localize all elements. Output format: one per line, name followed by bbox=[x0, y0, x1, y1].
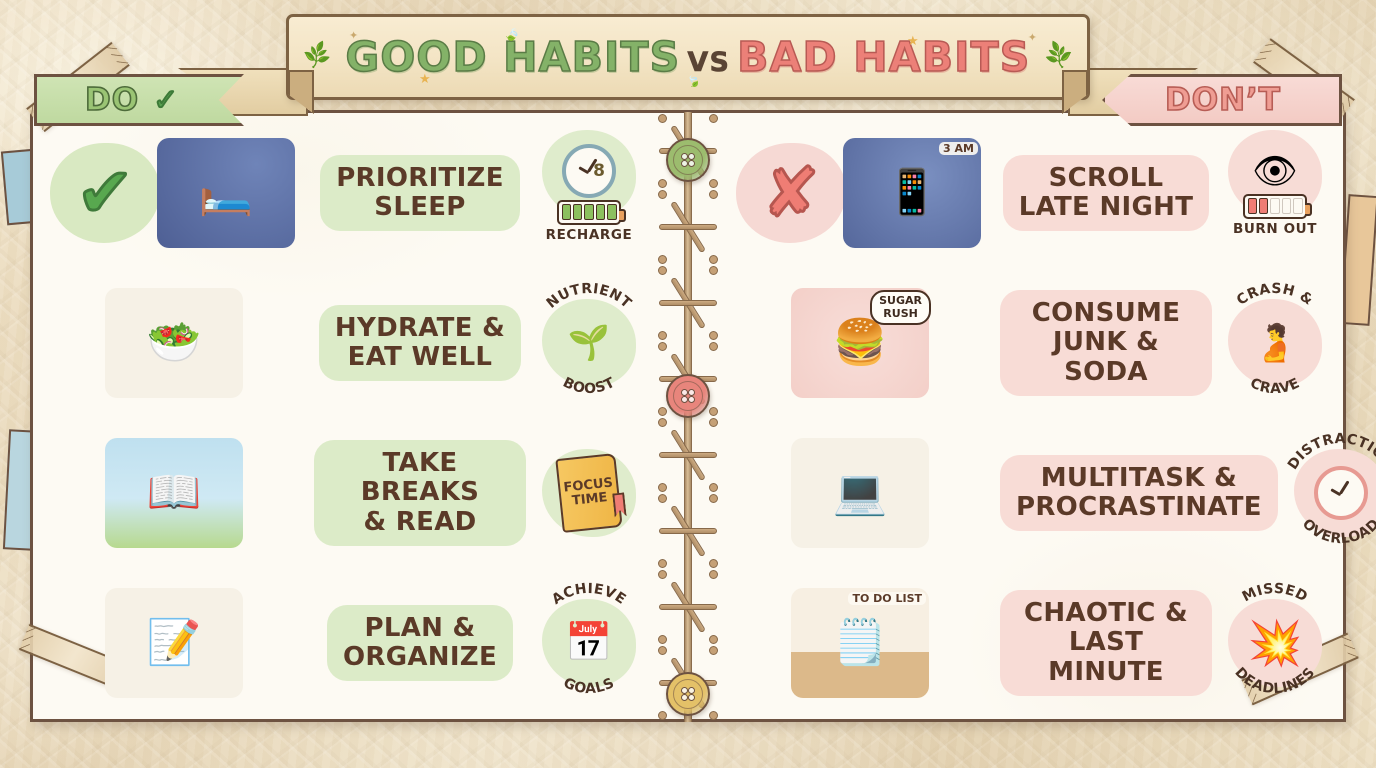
habit-label: TAKE BREAKS& READ bbox=[314, 440, 526, 545]
leaf-sprig-icon-right: 🌿 bbox=[1042, 39, 1074, 72]
svg-text:DEADLINES: DEADLINES bbox=[1231, 665, 1318, 698]
scene-tile: 🗒️TO DO LIST bbox=[791, 588, 929, 698]
svg-text:CRAVE: CRAVE bbox=[1248, 375, 1303, 397]
habit-label-cell: CONSUMEJUNK & SODA bbox=[996, 290, 1216, 395]
do-row: 📝PLAN &ORGANIZEACHIEVEGOALS📅 bbox=[38, 568, 648, 718]
svg-text:OVERLOAD: OVERLOAD bbox=[1299, 516, 1376, 547]
page-title: GOOD HABITSVSBAD HABITS bbox=[345, 33, 1030, 81]
star-icon-1: ★ bbox=[419, 71, 431, 87]
divider-red-button bbox=[666, 374, 710, 418]
scene-icon: 📖 bbox=[147, 471, 202, 515]
scene-tile: 📖 bbox=[105, 438, 243, 548]
habit-label-cell: HYDRATE &EAT WELL bbox=[310, 305, 530, 381]
habit-label-cell: MULTITASK &PROCRASTINATE bbox=[996, 455, 1282, 531]
scene-holder: 📖 bbox=[105, 438, 243, 548]
habit-label-cell: PLAN &ORGANIZE bbox=[310, 605, 530, 681]
scene-holder: 🗒️TO DO LIST bbox=[791, 588, 929, 698]
habit-badge: ACHIEVEGOALS📅 bbox=[530, 572, 648, 714]
lace-cross bbox=[659, 568, 717, 646]
habit-label-cell: SCROLLLATE NIGHT bbox=[996, 155, 1216, 231]
dont-row: 🍔SUGARRUSHCONSUMEJUNK & SODACRASH &CRAVE… bbox=[724, 268, 1334, 418]
scene-tile: 🥗 bbox=[105, 288, 243, 398]
calendar-icon: 📅 bbox=[565, 621, 612, 665]
lace-cross bbox=[659, 416, 717, 494]
scene-tile: 📱3 AM bbox=[843, 138, 981, 248]
scene-holder: 📱3 AM bbox=[843, 138, 981, 248]
stomach-icon: 🫄 bbox=[1253, 322, 1298, 364]
badge-seedling-icon: NUTRIENTBOOST🌱 bbox=[531, 287, 647, 399]
badge-stomach-icon: CRASH &CRAVE🫄 bbox=[1217, 287, 1333, 399]
badge-inner: 8RECHARGE bbox=[546, 144, 633, 243]
scene-icon: 💻 bbox=[833, 471, 888, 515]
scene-note: TO DO LIST bbox=[848, 592, 926, 605]
battery-icon bbox=[1243, 194, 1307, 219]
scene-icon: 📱 bbox=[885, 171, 940, 215]
scene-note: 3 AM bbox=[939, 142, 978, 155]
tired-eye-icon: 👁 bbox=[1252, 150, 1298, 192]
clock-icon: 8 bbox=[562, 144, 616, 198]
scene-icon: 🥗 bbox=[147, 321, 202, 365]
svg-text:NUTRIENT: NUTRIENT bbox=[544, 281, 635, 312]
habit-badge: 👁BURN OUT bbox=[1216, 122, 1334, 264]
divider-yellow-button bbox=[666, 672, 710, 716]
scene-holder: 📝 bbox=[105, 588, 243, 698]
habit-badge: DISTRACTIONOVERLOAD bbox=[1282, 422, 1376, 564]
badge-calendar-icon: ACHIEVEGOALS📅 bbox=[531, 587, 647, 699]
habit-label: HYDRATE &EAT WELL bbox=[319, 305, 521, 381]
habit-label: MULTITASK &PROCRASTINATE bbox=[1000, 455, 1278, 531]
scene-holder: 🍔SUGARRUSH bbox=[791, 288, 929, 398]
dont-row: 💻MULTITASK &PROCRASTINATEDISTRACTIONOVER… bbox=[724, 418, 1334, 568]
badge-caption: BURN OUT bbox=[1233, 221, 1317, 237]
scene-holder: 🛏️ bbox=[157, 138, 295, 248]
habit-illustration: ✘📱3 AM bbox=[724, 122, 996, 264]
speech-bubble: SUGARRUSH bbox=[870, 290, 931, 325]
habit-label-cell: TAKE BREAKS& READ bbox=[310, 440, 530, 545]
clock-hour-label: 8 bbox=[593, 161, 605, 181]
scene-holder: 🥗 bbox=[105, 288, 243, 398]
habit-badge: CRASH &CRAVE🫄 bbox=[1216, 272, 1334, 414]
sparkle-icon-2: ✦ bbox=[1028, 31, 1037, 44]
scene-tile: 💻 bbox=[791, 438, 929, 548]
scene-icon: 🗒️ bbox=[833, 621, 888, 665]
cross-icon: ✘ bbox=[763, 154, 820, 233]
badge-distraction-overload: DISTRACTIONOVERLOAD bbox=[1283, 437, 1376, 549]
svg-text:MISSED: MISSED bbox=[1240, 581, 1311, 606]
battery-icon bbox=[557, 200, 621, 225]
habit-illustration: 📖 bbox=[38, 422, 310, 564]
habit-illustration: ✔🛏️ bbox=[38, 122, 310, 264]
verdict-mark: ✔ bbox=[53, 154, 157, 233]
scene-icon: 🛏️ bbox=[199, 171, 254, 215]
verdict-mark: ✘ bbox=[739, 154, 843, 233]
lace-cross bbox=[659, 264, 717, 342]
lace-cross bbox=[659, 188, 717, 266]
habit-label: CONSUMEJUNK & SODA bbox=[1000, 290, 1212, 395]
leaf-sprig-icon-left: 🌿 bbox=[301, 39, 333, 72]
habit-illustration: 🍔SUGARRUSH bbox=[724, 272, 996, 414]
svg-text:CRASH &: CRASH & bbox=[1234, 281, 1316, 309]
star-icon-2: ★ bbox=[907, 33, 919, 49]
habit-label: CHAOTIC &LAST MINUTE bbox=[1000, 590, 1212, 695]
do-label: DO bbox=[85, 82, 139, 118]
title-banner: 🌿 ✦ 🍃 ★ 🍃 ★ ✦ GOOD HABITSVSBAD HABITS 🌿 bbox=[286, 14, 1090, 100]
divider-green-button bbox=[666, 138, 710, 182]
center-divider bbox=[657, 112, 719, 722]
focus-time-book-icon: FOCUSTIME bbox=[555, 453, 622, 533]
svg-text:BOOST: BOOST bbox=[560, 375, 617, 397]
do-column: ✔🛏️PRIORITIZESLEEP8RECHARGE🥗HYDRATE &EAT… bbox=[38, 118, 648, 718]
badge-starburst-icon: MISSEDDEADLINES💥 bbox=[1217, 587, 1333, 699]
scene-icon: 🍔 bbox=[833, 321, 888, 365]
habit-badge: FOCUSTIME bbox=[530, 422, 648, 564]
check-icon: ✓ bbox=[153, 83, 178, 118]
habit-badge: 8RECHARGE bbox=[530, 122, 648, 264]
habit-illustration: 📝 bbox=[38, 572, 310, 714]
svg-text:GOALS: GOALS bbox=[561, 675, 617, 697]
habit-illustration: 🥗 bbox=[38, 272, 310, 414]
title-bad-habits: BAD HABITS bbox=[737, 33, 1030, 81]
habit-illustration: 💻 bbox=[724, 422, 996, 564]
scene-icon: 📝 bbox=[147, 621, 202, 665]
scene-holder: 💻 bbox=[791, 438, 929, 548]
badge-caption: RECHARGE bbox=[546, 227, 633, 243]
svg-text:DISTRACTION: DISTRACTION bbox=[1285, 431, 1376, 473]
check-icon: ✔ bbox=[77, 154, 134, 233]
habit-badge: MISSEDDEADLINES💥 bbox=[1216, 572, 1334, 714]
habit-illustration: 🗒️TO DO LIST bbox=[724, 572, 996, 714]
do-row: 📖TAKE BREAKS& READFOCUSTIME bbox=[38, 418, 648, 568]
clock-icon bbox=[1314, 466, 1368, 520]
sparkle-icon-1: ✦ bbox=[349, 29, 358, 42]
lace-cross bbox=[659, 492, 717, 570]
seedling-icon: 🌱 bbox=[568, 323, 610, 363]
do-row: 🥗HYDRATE &EAT WELLNUTRIENTBOOST🌱 bbox=[38, 268, 648, 418]
dont-row: 🗒️TO DO LISTCHAOTIC &LAST MINUTEMISSEDDE… bbox=[724, 568, 1334, 718]
dont-row: ✘📱3 AMSCROLLLATE NIGHT👁BURN OUT bbox=[724, 118, 1334, 268]
habit-label-cell: PRIORITIZESLEEP bbox=[310, 155, 530, 231]
habit-badge: NUTRIENTBOOST🌱 bbox=[530, 272, 648, 414]
starburst-icon: 💥 bbox=[1248, 617, 1303, 669]
habit-label: SCROLLLATE NIGHT bbox=[1003, 155, 1210, 231]
habit-label: PRIORITIZESLEEP bbox=[320, 155, 520, 231]
habit-label: PLAN &ORGANIZE bbox=[327, 605, 513, 681]
do-row: ✔🛏️PRIORITIZESLEEP8RECHARGE bbox=[38, 118, 648, 268]
dont-column: ✘📱3 AMSCROLLLATE NIGHT👁BURN OUT🍔SUGARRUS… bbox=[724, 118, 1334, 718]
habit-label-cell: CHAOTIC &LAST MINUTE bbox=[996, 590, 1216, 695]
svg-text:ACHIEVE: ACHIEVE bbox=[549, 581, 629, 608]
scene-tile: 🛏️ bbox=[157, 138, 295, 248]
dont-label: DON’T bbox=[1165, 82, 1281, 118]
scene-tile: 📝 bbox=[105, 588, 243, 698]
badge-inner: 👁BURN OUT bbox=[1233, 150, 1317, 237]
